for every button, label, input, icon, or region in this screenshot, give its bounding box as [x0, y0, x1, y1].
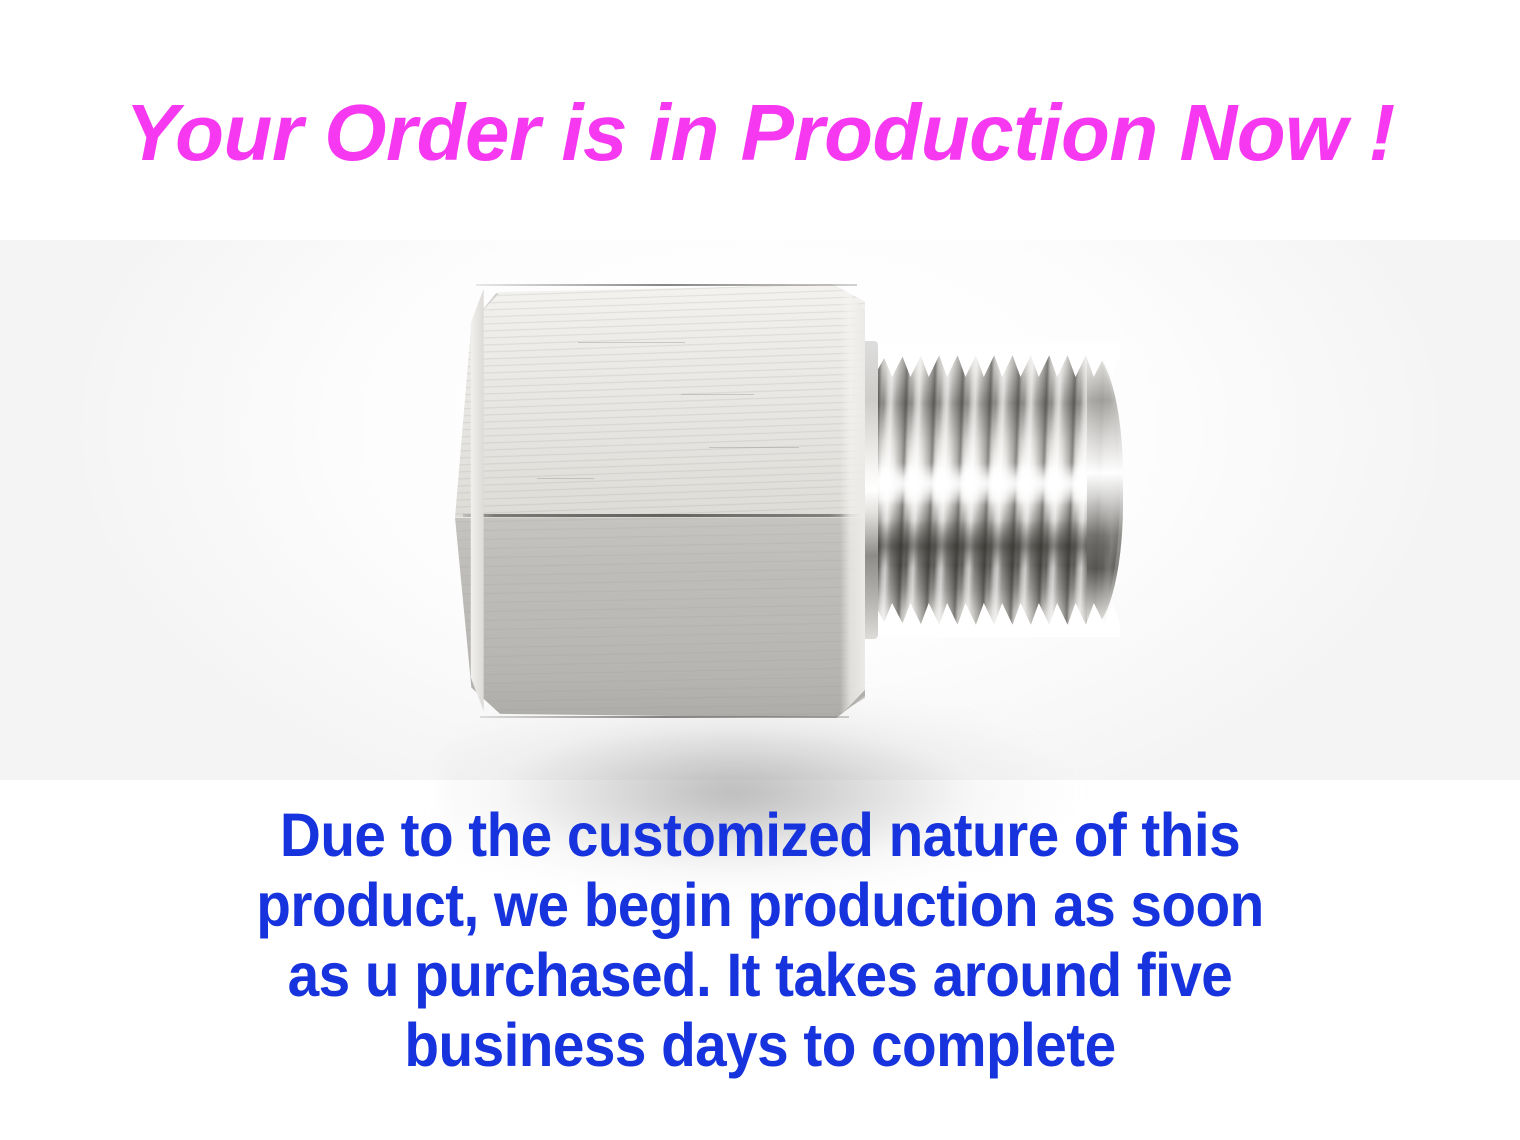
hex-scratch-mark [578, 342, 685, 343]
disclaimer-line-3: as u purchased. It takes around five [53, 940, 1467, 1010]
hex-scratch-mark [681, 394, 755, 395]
hex-machining-lines-bottom [455, 518, 865, 720]
hex-machining-lines-top [455, 280, 865, 518]
hex-nut-body [455, 280, 865, 720]
hex-outline-top [476, 284, 857, 286]
thread-end-tip [1087, 349, 1123, 631]
hex-scratch-mark [537, 478, 594, 479]
male-threaded-section [858, 345, 1120, 635]
thread-specular-highlight [862, 463, 1112, 505]
disclaimer-line-2: product, we begin production as soon [53, 870, 1467, 940]
promotional-product-banner: Your Order is in Production Now ! [0, 0, 1520, 1140]
pipe-adapter-fitting-illustration [0, 240, 1520, 780]
hex-scratch-mark [709, 447, 799, 448]
hex-right-chamfer [840, 284, 865, 715]
disclaimer-text: Due to the customized nature of this pro… [0, 800, 1520, 1080]
hex-outline-bottom [480, 716, 849, 718]
thread-shadow-band [862, 521, 1110, 567]
disclaimer-line-4: business days to complete [53, 1010, 1467, 1080]
product-photo [0, 240, 1520, 780]
disclaimer-line-1: Due to the customized nature of this [53, 800, 1467, 870]
hex-facet-edge [463, 514, 861, 517]
page-title: Your Order is in Production Now ! [0, 93, 1520, 173]
